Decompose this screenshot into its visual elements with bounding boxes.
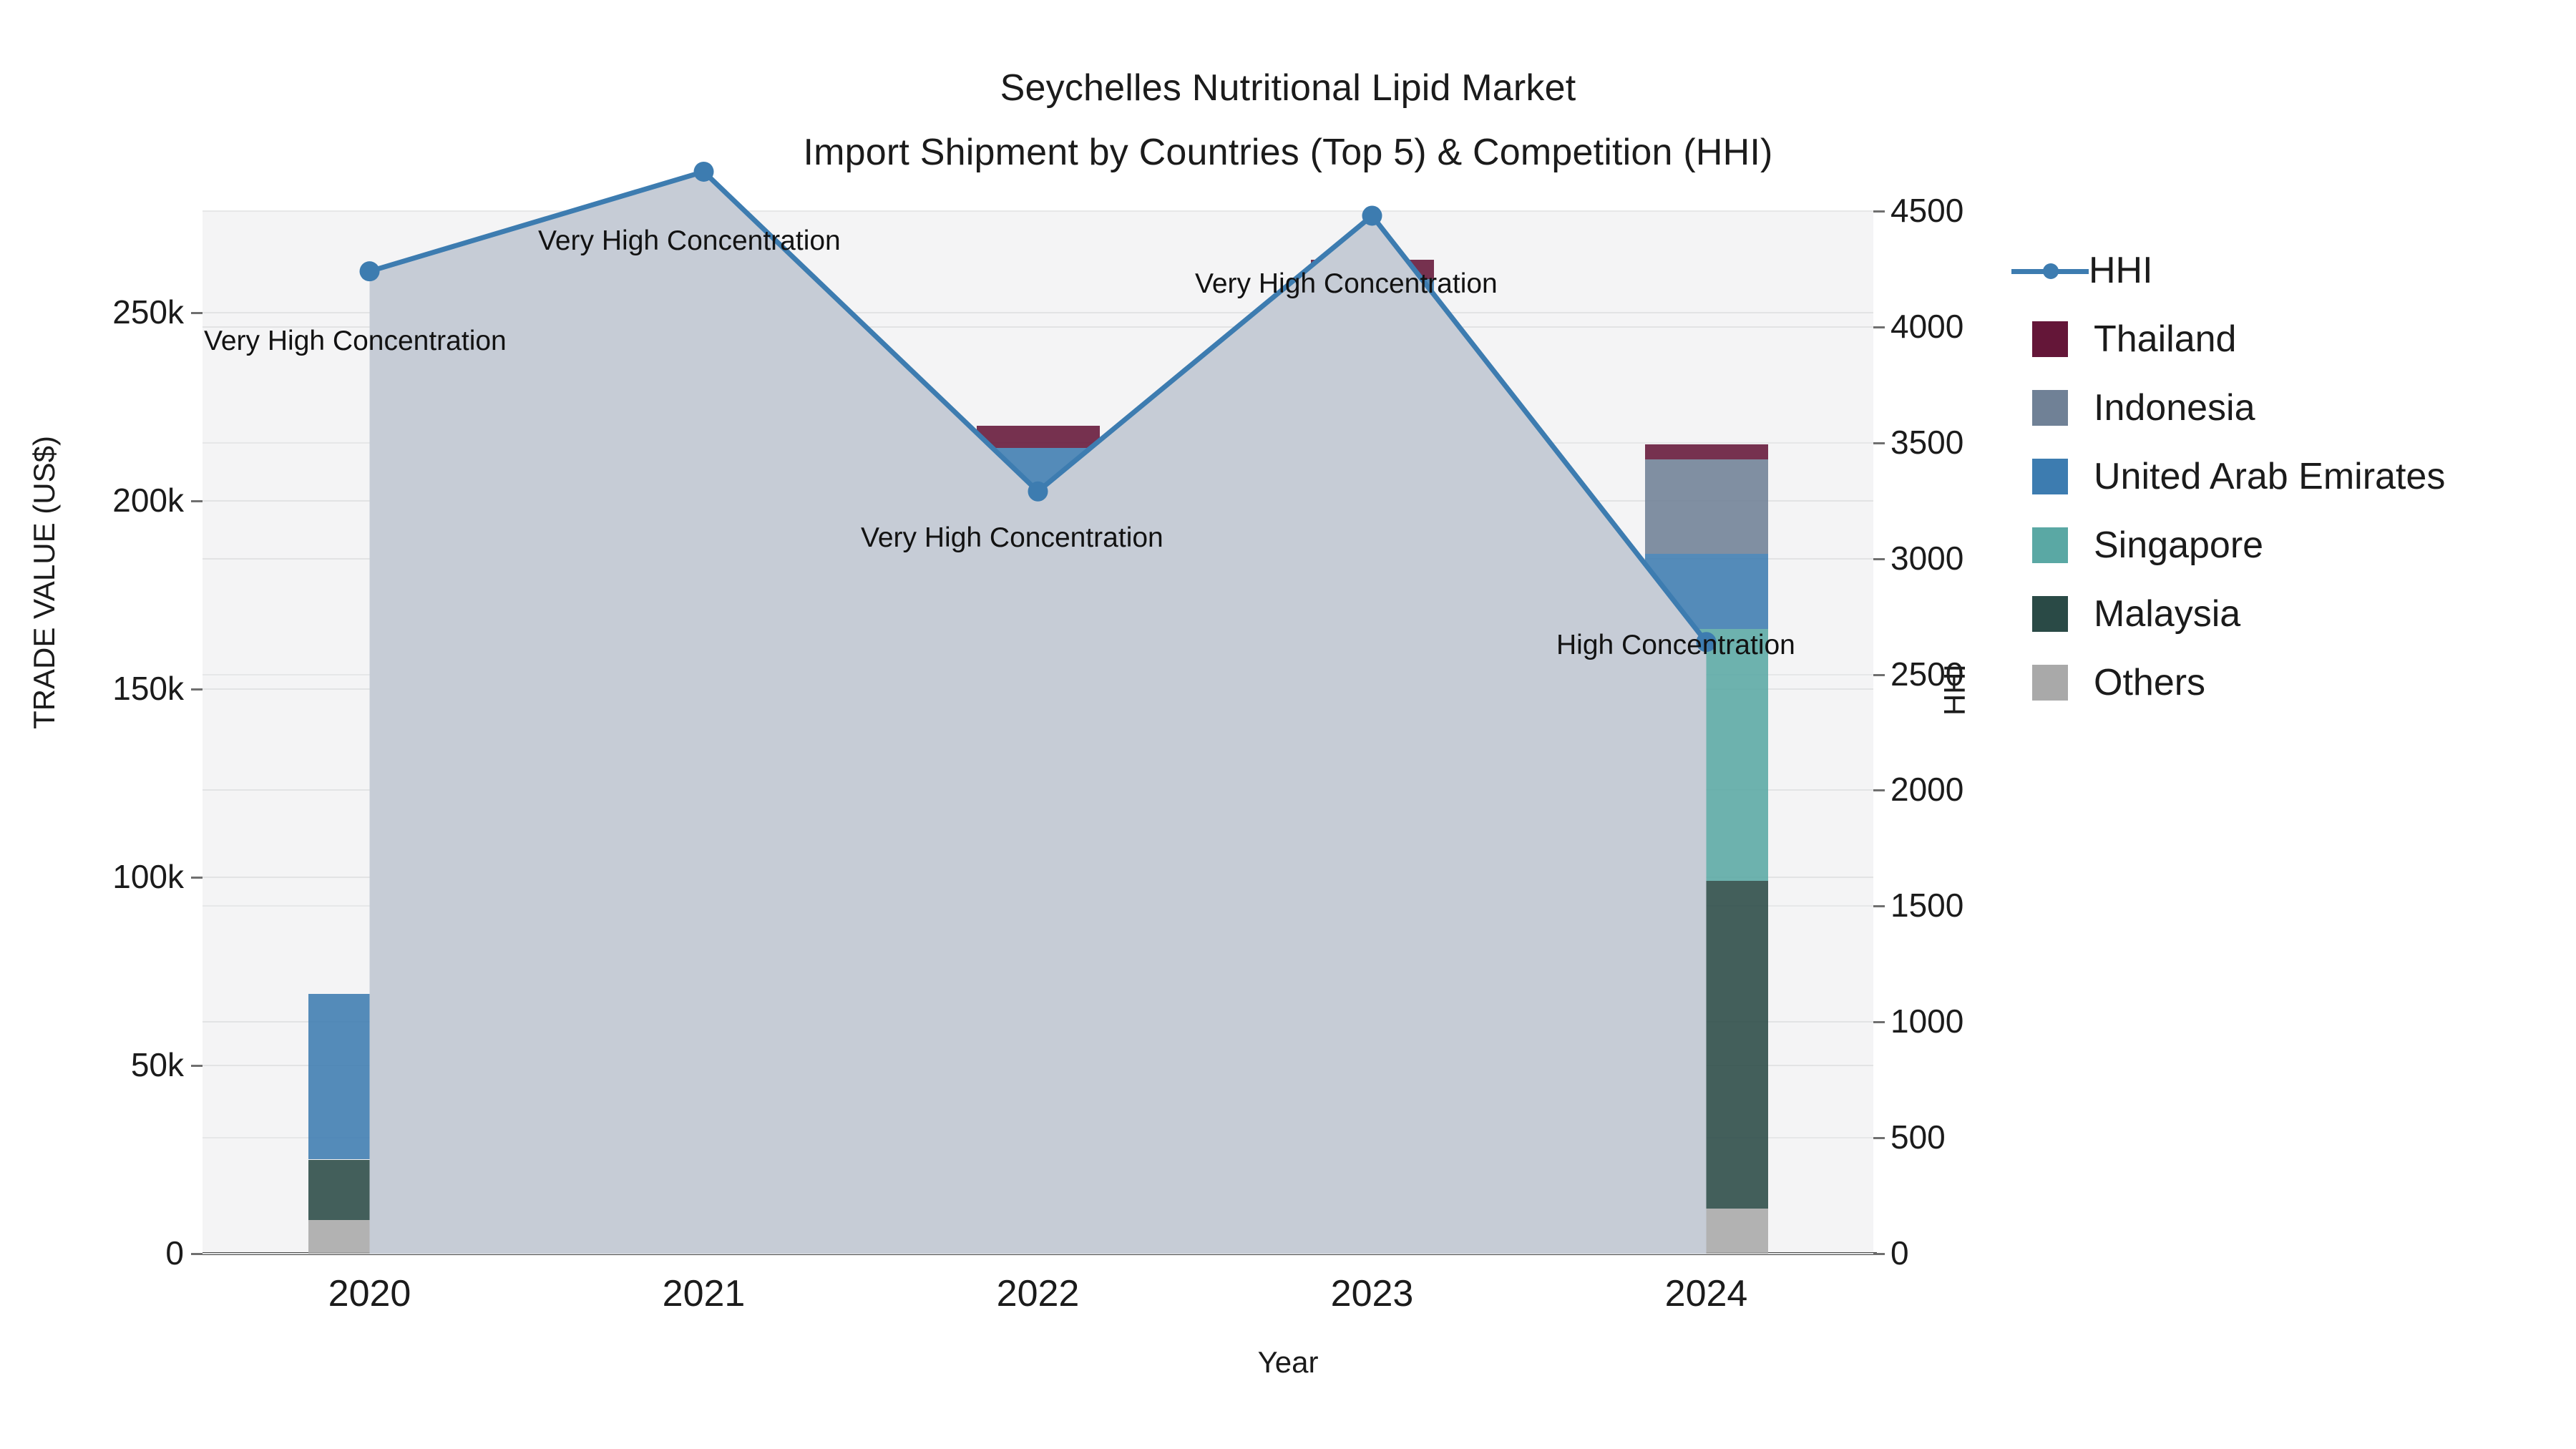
legend-item-label: Singapore: [2094, 525, 2263, 565]
legend-item-united-arab-emirates[interactable]: United Arab Emirates: [2032, 442, 2562, 511]
legend-line-icon: [2011, 253, 2089, 288]
concentration-annotation: Very High Concentration: [538, 225, 841, 257]
y-axis-tickmark: [191, 688, 203, 691]
bar-segment[interactable]: [643, 919, 766, 1246]
legend-item-label: Malaysia: [2094, 594, 2240, 634]
legend-swatch-icon: [2032, 459, 2068, 494]
legend-swatch-icon: [2032, 665, 2068, 701]
y2-axis-tickmark: [1873, 442, 1885, 444]
y-axis-tick-label: 200k: [5, 484, 184, 517]
bar-segment[interactable]: [308, 1160, 431, 1220]
legend-item-label: Indonesia: [2094, 388, 2255, 428]
legend-item-hhi[interactable]: HHI: [2032, 236, 2562, 305]
y-axis-title: TRADE VALUE (US$): [27, 311, 62, 854]
bar-segment[interactable]: [1645, 459, 1768, 553]
y-axis-tick-label: 50k: [5, 1048, 184, 1081]
y-axis-tick-label: 100k: [5, 860, 184, 893]
bar-segment[interactable]: [977, 972, 1100, 1228]
x-axis-tick-label: 2023: [1229, 1272, 1516, 1315]
legend-item-label: Others: [2094, 663, 2205, 703]
y2-axis-tickmark: [1873, 326, 1885, 328]
legend-item-label: Thailand: [2094, 319, 2236, 359]
x-axis-tick-label: 2024: [1563, 1272, 1850, 1315]
bar-segment[interactable]: [643, 1246, 766, 1254]
bar-segment[interactable]: [1645, 1209, 1768, 1254]
bar-segment[interactable]: [977, 426, 1100, 449]
x-axis-title: Year: [0, 1345, 2576, 1380]
legend-item-others[interactable]: Others: [2032, 648, 2562, 717]
y2-axis-tick-label: 1500: [1890, 889, 2077, 922]
bar-segment[interactable]: [1311, 290, 1434, 881]
bar-segment[interactable]: [308, 994, 431, 1159]
concentration-annotation: Very High Concentration: [861, 522, 1163, 554]
bar-segment[interactable]: [1645, 444, 1768, 459]
bar-segment[interactable]: [308, 1220, 431, 1254]
bar-segment[interactable]: [643, 738, 766, 911]
y-axis-tickmark: [191, 500, 203, 502]
x-axis-tick-label: 2021: [561, 1272, 847, 1315]
y-axis-tickmark: [191, 877, 203, 879]
y2-axis-tickmark: [1873, 905, 1885, 907]
y2-axis-tick-label: 4500: [1890, 194, 2077, 227]
y-axis-tickmark: [191, 312, 203, 314]
y2-axis-tickmark: [1873, 1253, 1885, 1255]
gridline: [203, 210, 1873, 212]
legend-item-thailand[interactable]: Thailand: [2032, 305, 2562, 374]
legend-swatch-icon: [2032, 527, 2068, 563]
legend-swatch-icon: [2032, 321, 2068, 357]
bar-segment[interactable]: [977, 1227, 1100, 1254]
gridline: [203, 312, 1873, 313]
hhi-data-point[interactable]: [694, 162, 714, 182]
bar-segment[interactable]: [1311, 1209, 1434, 1254]
legend: HHIThailandIndonesiaUnited Arab Emirates…: [2032, 236, 2562, 717]
y2-axis-tickmark: [1873, 1137, 1885, 1139]
y-axis-tick-label: 0: [5, 1236, 184, 1269]
y2-axis-tickmark: [1873, 674, 1885, 676]
y-axis-tick-label: 250k: [5, 296, 184, 328]
y2-axis-tick-label: 1000: [1890, 1005, 2077, 1038]
bar-segment[interactable]: [1645, 629, 1768, 881]
bar-segment[interactable]: [1311, 881, 1434, 1209]
bar-segment[interactable]: [643, 727, 766, 738]
y2-axis-tickmark: [1873, 210, 1885, 213]
x-axis-tick-label: 2020: [227, 1272, 513, 1315]
chart-title-block: Seychelles Nutritional Lipid Market Impo…: [0, 56, 2576, 185]
y2-axis-tickmark: [1873, 1021, 1885, 1023]
y2-axis-tick-label: 0: [1890, 1236, 2077, 1269]
concentration-annotation: High Concentration: [1556, 630, 1795, 661]
concentration-annotation: Very High Concentration: [1195, 268, 1498, 300]
legend-item-label: HHI: [2089, 250, 2153, 291]
legend-item-label: United Arab Emirates: [2094, 457, 2445, 497]
y-axis-tickmark: [191, 1065, 203, 1067]
x-axis-tick-label: 2022: [895, 1272, 1181, 1315]
legend-item-indonesia[interactable]: Indonesia: [2032, 374, 2562, 442]
y2-axis-tick-label: 2000: [1890, 773, 2077, 806]
bar-segment[interactable]: [977, 599, 1100, 972]
y2-axis-tickmark: [1873, 558, 1885, 560]
legend-swatch-icon: [2032, 596, 2068, 632]
y-axis-tick-label: 150k: [5, 672, 184, 705]
bar-segment[interactable]: [1645, 881, 1768, 1209]
y2-axis-tickmark: [1873, 789, 1885, 791]
y-axis-tickmark: [191, 1253, 203, 1255]
bar-segment[interactable]: [1645, 554, 1768, 629]
y2-axis-tick-label: 500: [1890, 1121, 2077, 1153]
bar-segment[interactable]: [643, 911, 766, 919]
legend-item-singapore[interactable]: Singapore: [2032, 511, 2562, 580]
legend-swatch-icon: [2032, 390, 2068, 426]
chart-subtitle: Import Shipment by Countries (Top 5) & C…: [0, 120, 2576, 185]
chart-title: Seychelles Nutritional Lipid Market: [0, 56, 2576, 120]
legend-item-malaysia[interactable]: Malaysia: [2032, 580, 2562, 648]
concentration-annotation: Very High Concentration: [204, 326, 507, 357]
